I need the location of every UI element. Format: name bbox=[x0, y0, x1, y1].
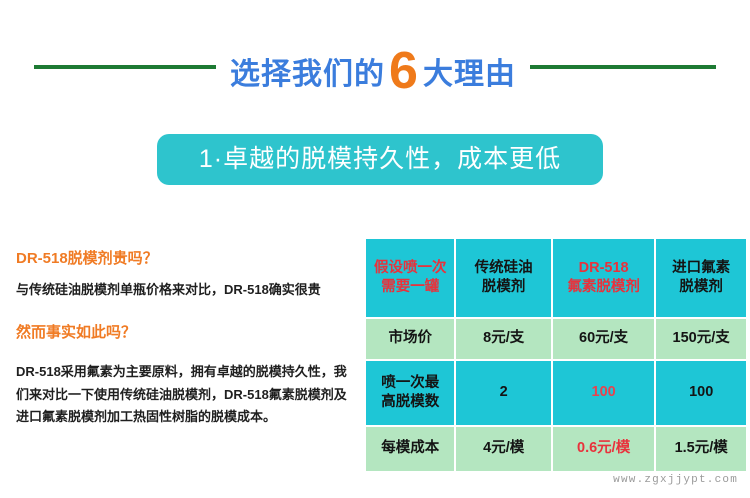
page-title-suffix: 大理由 bbox=[423, 60, 516, 90]
table-header-cell-3-line1: 进口氟素 bbox=[656, 259, 746, 278]
table-row-0-cell-0: 8元/支 bbox=[456, 319, 552, 361]
copy-paragraph-1: 与传统硅油脱模剂单瓶价格来对比，DR-518确实很贵 bbox=[16, 279, 356, 302]
table-row: 市场价 8元/支 60元/支 150元/支 bbox=[366, 319, 746, 361]
table-row-1-label-line1: 喷一次最 bbox=[366, 374, 454, 393]
table-row: 每模成本 4元/模 0.6元/模 1.5元/模 bbox=[366, 427, 746, 471]
table-row-2-cell-2: 1.5元/模 bbox=[656, 427, 746, 471]
copy-heading-2: 然而事实如此吗？ bbox=[16, 324, 356, 342]
table-header-cell-2-line1: DR-518 bbox=[553, 259, 654, 278]
page-title-prefix: 选择我们的 bbox=[230, 60, 385, 90]
copy-column: DR-518脱模剂贵吗？ 与传统硅油脱模剂单瓶价格来对比，DR-518确实很贵 … bbox=[16, 250, 356, 429]
title-rule-left bbox=[34, 65, 216, 69]
table-header-cell-1-line1: 传统硅油 bbox=[456, 259, 550, 278]
table-row-1-cell-1: 100 bbox=[553, 361, 656, 427]
table-header-cell-0-line1: 假设喷一次 bbox=[366, 259, 454, 278]
table-row-0-cell-2: 150元/支 bbox=[656, 319, 746, 361]
table-header-cell-3: 进口氟素 脱模剂 bbox=[656, 239, 746, 319]
table-header-cell-1-line2: 脱模剂 bbox=[456, 278, 550, 297]
table-header-cell-0: 假设喷一次 需要一罐 bbox=[366, 239, 456, 319]
table-row-1-cell-0: 2 bbox=[456, 361, 552, 427]
table-row-2-cell-0: 4元/模 bbox=[456, 427, 552, 471]
table-row-1-label-line2: 高脱模数 bbox=[366, 393, 454, 412]
table-header-cell-2: DR-518 氟素脱模剂 bbox=[553, 239, 656, 319]
table-header-cell-0-line2: 需要一罐 bbox=[366, 278, 454, 297]
page-title-number: 6 bbox=[385, 45, 423, 97]
copy-paragraph-2: DR-518采用氟素为主要原料，拥有卓越的脱模持久性，我们来对比一下使用传统硅油… bbox=[16, 361, 356, 429]
table-row-1-cell-2: 100 bbox=[656, 361, 746, 427]
table-header-cell-3-line2: 脱模剂 bbox=[656, 278, 746, 297]
table-row: 喷一次最 高脱模数 2 100 100 bbox=[366, 361, 746, 427]
table-row-1-label: 喷一次最 高脱模数 bbox=[366, 361, 456, 427]
comparison-table: 假设喷一次 需要一罐 传统硅油 脱模剂 DR-518 氟素脱模剂 进口氟素 脱模… bbox=[366, 239, 746, 471]
table-row-0-cell-1: 60元/支 bbox=[553, 319, 656, 361]
watermark: www.zgxjjypt.com bbox=[613, 474, 738, 486]
table-header-cell-1: 传统硅油 脱模剂 bbox=[456, 239, 552, 319]
section-banner-label: 1·卓越的脱模持久性，成本更低 bbox=[199, 147, 561, 172]
table-row-2-cell-1: 0.6元/模 bbox=[553, 427, 656, 471]
table-row-0-label: 市场价 bbox=[366, 319, 456, 361]
table-row-2-label: 每模成本 bbox=[366, 427, 456, 471]
page-title: 选择我们的 6 大理由 bbox=[0, 38, 750, 96]
table-header-row: 假设喷一次 需要一罐 传统硅油 脱模剂 DR-518 氟素脱模剂 进口氟素 脱模… bbox=[366, 239, 746, 319]
table-header-cell-2-line2: 氟素脱模剂 bbox=[553, 278, 654, 297]
title-rule-right bbox=[530, 65, 716, 69]
page-title-text: 选择我们的 6 大理由 bbox=[230, 41, 516, 93]
section-banner: 1·卓越的脱模持久性，成本更低 bbox=[157, 134, 603, 185]
copy-heading-1: DR-518脱模剂贵吗？ bbox=[16, 250, 356, 268]
